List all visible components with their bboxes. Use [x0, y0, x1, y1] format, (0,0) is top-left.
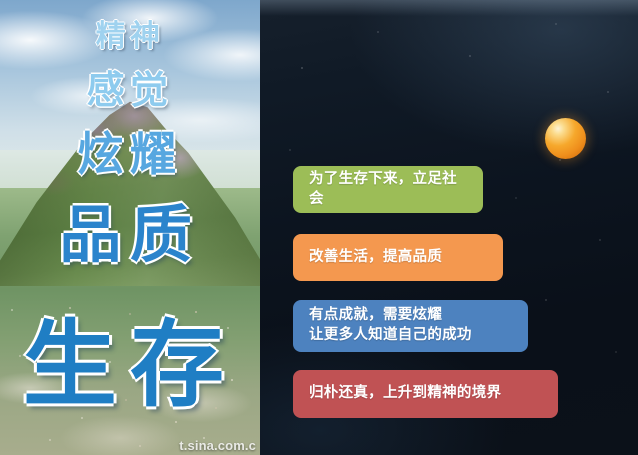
caption-panel: 为了生存下来，立足社会 改善生活，提高品质 有点成就，需要炫耀 让更多人知道自己…: [260, 0, 638, 455]
caption-line: 让更多人知道自己的成功: [309, 326, 472, 346]
pyramid-word-quality: 品质: [0, 205, 260, 267]
pyramid-photo-panel: 精神 感觉 炫耀 品质 生存 t.sina.com.c: [0, 0, 260, 455]
caption-bubble-survival: 为了生存下来，立足社会: [293, 166, 483, 213]
caption-line: 归朴还真，上升到精神的境界: [309, 384, 501, 404]
caption-line: 为了生存下来，立足社会: [309, 170, 467, 209]
caption-bubble-quality: 改善生活，提高品质: [293, 234, 503, 281]
pyramid-word-spirit: 精神: [0, 22, 260, 52]
pyramid-word-survival: 生存: [0, 318, 260, 412]
caption-line: 改善生活，提高品质: [309, 248, 442, 268]
caption-line: 有点成就，需要炫耀: [309, 306, 472, 326]
caption-bubble-show-off: 有点成就，需要炫耀 让更多人知道自己的成功: [293, 300, 528, 352]
pyramid-word-show-off: 炫耀: [0, 131, 260, 177]
orange-planet-icon: [545, 118, 586, 159]
screenshot-root: 精神 感觉 炫耀 品质 生存 t.sina.com.c 为了生存下来，立足社会 …: [0, 0, 638, 455]
caption-bubble-spirit: 归朴还真，上升到精神的境界: [293, 370, 558, 418]
pyramid-word-feeling: 感觉: [0, 72, 260, 110]
watermark-text: t.sina.com.c: [179, 438, 256, 453]
